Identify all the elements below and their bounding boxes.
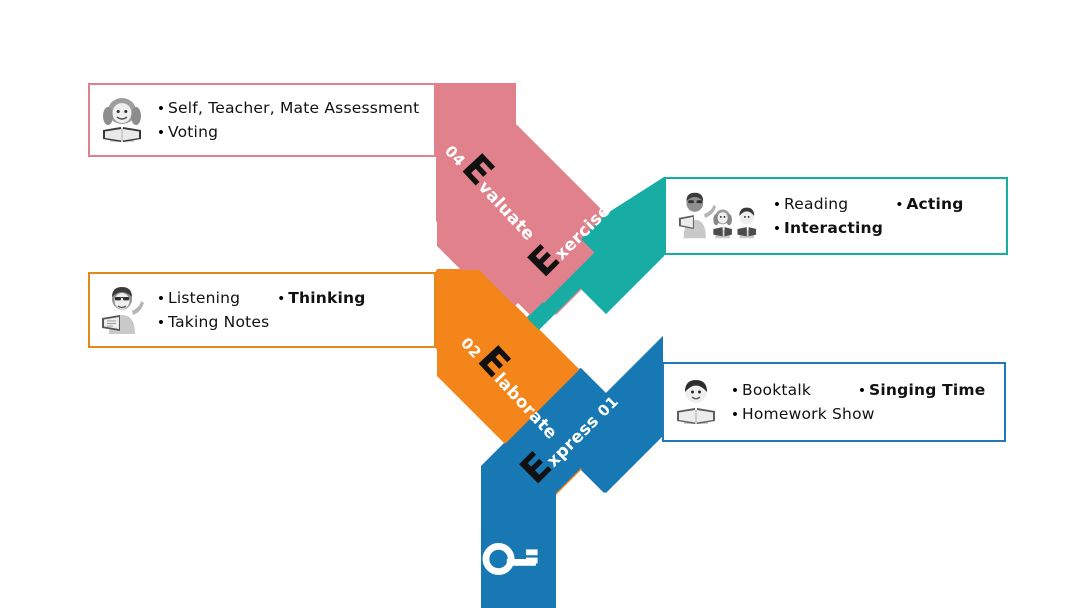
- arrow-band-final: [436, 83, 664, 608]
- item-text: Voting: [168, 123, 218, 141]
- step-word-elaborate: laborate: [490, 369, 561, 443]
- bullet-icon: •: [274, 291, 288, 306]
- arrow-elaborate-shape: [437, 269, 606, 451]
- student-with-notebook-icon: [96, 284, 148, 336]
- content-lines-express: • Booktalk • Singing Time • Homework Sho…: [728, 381, 996, 423]
- item-text: Singing Time: [869, 381, 985, 399]
- bullet-icon: •: [728, 407, 742, 422]
- step-label-exercise: E xercise 03: [525, 172, 635, 282]
- content-lines-evaluate: • Self, Teacher, Mate Assessment • Votin…: [154, 99, 426, 141]
- item-text: Interacting: [784, 219, 883, 237]
- item-text: Thinking: [288, 289, 365, 307]
- teacher-and-students-icon: [672, 190, 764, 242]
- boy-reading-icon: [670, 376, 722, 428]
- content-box-evaluate: • Self, Teacher, Mate Assessment • Votin…: [88, 83, 436, 157]
- arrow-exercise-head: [581, 177, 664, 314]
- content-box-elaborate: • Listening • Thinking • Taking Notes: [88, 272, 436, 348]
- step-label-elaborate: 02 E laborate: [456, 325, 570, 444]
- content-line: • Listening • Thinking: [154, 289, 426, 307]
- item-text: Acting: [906, 195, 963, 213]
- step-label-evaluate: 04 E valuate: [440, 133, 547, 245]
- bullet-icon: •: [770, 221, 784, 236]
- item-text: Booktalk: [742, 381, 811, 399]
- step-initial-evaluate: E: [458, 151, 497, 190]
- step-number-elaborate: 02: [457, 334, 485, 362]
- step-initial-exercise: E: [525, 242, 564, 281]
- arrow-elaborate-body: [436, 270, 604, 449]
- arrow-evaluate-final: [437, 83, 605, 315]
- bullet-icon: •: [154, 101, 168, 116]
- arrow-evaluate-body: [436, 83, 604, 315]
- arrow-exercise-final: [508, 177, 664, 339]
- item-text: Homework Show: [742, 405, 875, 423]
- key-icon: [471, 515, 559, 603]
- content-line: • Reading • Acting: [770, 195, 998, 213]
- arrow-evaluate-shape-2: [437, 83, 606, 267]
- content-line: • Voting: [154, 123, 426, 141]
- step-number-evaluate: 04: [441, 142, 469, 170]
- item-text: Listening: [168, 289, 240, 307]
- content-line: • Interacting: [770, 219, 998, 237]
- content-line: • Homework Show: [728, 405, 996, 423]
- bullet-icon: •: [855, 383, 869, 398]
- arrow-express: [481, 336, 663, 608]
- arrow-exercise-shape: [533, 177, 665, 365]
- step-label-express: E xpress 01: [517, 383, 623, 489]
- content-box-exercise: • Reading • Acting • Interacting: [664, 177, 1008, 255]
- step-word-evaluate: valuate: [474, 177, 539, 245]
- bullet-icon: •: [728, 383, 742, 398]
- arrow-elaborate: [437, 270, 604, 448]
- step-number-express: 01: [594, 392, 622, 420]
- arrow-express-final: [481, 336, 663, 608]
- bullet-icon: •: [154, 291, 168, 306]
- step-word-express: xpress: [543, 411, 603, 471]
- arrow-evaluate: [436, 83, 603, 309]
- content-line: • Self, Teacher, Mate Assessment: [154, 99, 426, 117]
- arrow-band-clean: [436, 83, 665, 608]
- step-initial-elaborate: E: [474, 343, 513, 382]
- item-text: Reading: [784, 195, 848, 213]
- arrow-elaborate-final: [437, 270, 605, 495]
- content-lines-elaborate: • Listening • Thinking • Taking Notes: [154, 289, 426, 331]
- bullet-icon: •: [154, 125, 168, 140]
- arrow-exercise: [507, 176, 665, 363]
- content-box-express: • Booktalk • Singing Time • Homework Sho…: [662, 362, 1006, 442]
- arrow-exercise-shape-2: [509, 177, 664, 339]
- step-initial-express: E: [517, 449, 556, 488]
- content-lines-exercise: • Reading • Acting • Interacting: [770, 195, 998, 237]
- girl-reading-icon: [96, 94, 148, 146]
- content-line: • Taking Notes: [154, 313, 426, 331]
- arrow-express-shape: [481, 337, 663, 608]
- item-text: Taking Notes: [168, 313, 269, 331]
- diagram-canvas: 04 E valuate E xercise 03 02 E laborate …: [0, 0, 1080, 608]
- bullet-icon: •: [154, 315, 168, 330]
- item-text: Self, Teacher, Mate Assessment: [168, 99, 419, 117]
- bullet-icon: •: [770, 197, 784, 212]
- arrow-evaluate-shape: [436, 83, 605, 311]
- content-line: • Booktalk • Singing Time: [728, 381, 996, 399]
- step-number-exercise: 03: [606, 181, 634, 209]
- bullet-icon: •: [892, 197, 906, 212]
- step-word-exercise: xercise: [551, 200, 615, 264]
